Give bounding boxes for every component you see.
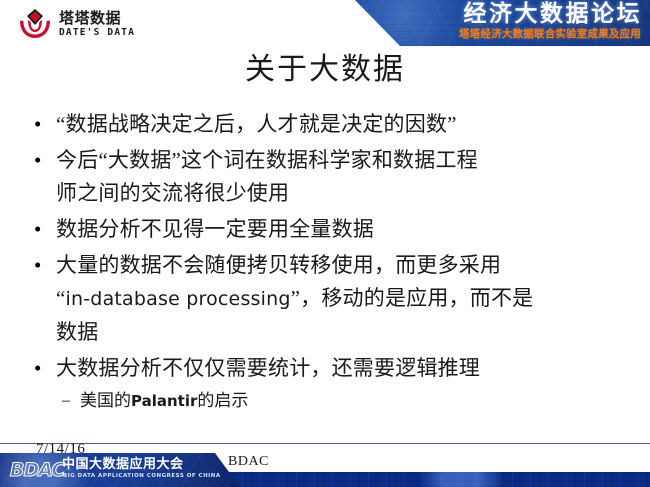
congress-name-en: BIG DATA APPLICATION CONGRESS OF CHINA	[63, 473, 221, 480]
forum-title: 经济大数据论坛	[464, 1, 643, 28]
tata-data-logo: 塔塔数据 DATE'S DATA	[18, 6, 188, 42]
bullet-text: 大数据分析不仅仅需要统计，还需要逻辑推理	[56, 352, 628, 385]
bullet-line: 大量的数据不会随便拷贝转移使用，而更多采用	[56, 253, 501, 277]
logo-wordmark: 塔塔数据 DATE'S DATA	[59, 11, 135, 38]
bullet-item: • “数据战略决定之后，人才就是决定的因数”	[28, 108, 628, 141]
bdac-logo-text: BDAC	[10, 459, 64, 481]
bullet-line-latin-term: in-database processing	[66, 288, 291, 310]
bullet-line: 今后“大数据”这个词在数据科学家和数据工程	[56, 148, 478, 172]
bullet-line-remainder: ”，移动的是应用，而不是	[291, 286, 534, 310]
bullet-line: “数据战略决定之后，人才就是决定的因数”	[56, 112, 457, 136]
tata-diamond-logo-icon	[18, 8, 52, 40]
bullet-line: 师之间的交流将很少使用	[56, 181, 289, 205]
bullet-marker-icon: •	[28, 213, 56, 246]
congress-name-cn: 中国大数据应用大会	[62, 457, 184, 472]
sub-bullet-latin-term: Palantir	[131, 392, 197, 410]
footer-center-label: BDAC	[228, 454, 269, 470]
slide-body: • “数据战略决定之后，人才就是决定的因数” • 今后“大数据”这个词在数据科学…	[28, 108, 628, 414]
bullet-line: 大数据分析不仅仅需要统计，还需要逻辑推理	[56, 356, 480, 380]
bullet-text: 今后“大数据”这个词在数据科学家和数据工程 师之间的交流将很少使用	[56, 144, 628, 210]
bullet-marker-icon: •	[28, 144, 56, 177]
sub-bullet-suffix: 的启示	[197, 391, 248, 410]
bullet-line: 数据	[56, 320, 98, 344]
sub-bullet-text: 美国的Palantir的启示	[80, 388, 248, 414]
sub-bullet-marker-icon: –	[62, 388, 80, 414]
bullet-text: “数据战略决定之后，人才就是决定的因数”	[56, 108, 628, 141]
bullet-line: 数据分析不见得一定要用全量数据	[56, 217, 374, 241]
slide-canvas: 经济大数据论坛 塔塔经济大数据联合实验室成果及应用 塔塔数据 DATE'S DA…	[0, 0, 650, 487]
logo-name-en: DATE'S DATA	[59, 28, 135, 38]
logo-name-cn: 塔塔数据	[59, 11, 135, 26]
bullet-marker-icon: •	[28, 249, 56, 282]
bullet-marker-icon: •	[28, 108, 56, 141]
bullet-item: • 大量的数据不会随便拷贝转移使用，而更多采用 “in-database pro…	[28, 249, 628, 349]
bullet-text: 大量的数据不会随便拷贝转移使用，而更多采用 “in-database proce…	[56, 249, 628, 349]
bullet-line-quote-open: “	[56, 286, 66, 310]
bullet-item: • 大数据分析不仅仅需要统计，还需要逻辑推理	[28, 352, 628, 385]
footer-divider	[0, 443, 650, 444]
forum-subtitle: 塔塔经济大数据联合实验室成果及应用	[459, 28, 641, 41]
bullet-item: • 数据分析不见得一定要用全量数据	[28, 213, 628, 246]
bullet-item: • 今后“大数据”这个词在数据科学家和数据工程 师之间的交流将很少使用	[28, 144, 628, 210]
bullet-marker-icon: •	[28, 352, 56, 385]
sub-bullet-item: – 美国的Palantir的启示	[62, 388, 628, 414]
slide-header: 经济大数据论坛 塔塔经济大数据联合实验室成果及应用 塔塔数据 DATE'S DA…	[0, 0, 650, 46]
slide-title: 关于大数据	[0, 50, 650, 90]
bullet-text: 数据分析不见得一定要用全量数据	[56, 213, 628, 246]
sub-bullet-prefix: 美国的	[80, 391, 131, 410]
